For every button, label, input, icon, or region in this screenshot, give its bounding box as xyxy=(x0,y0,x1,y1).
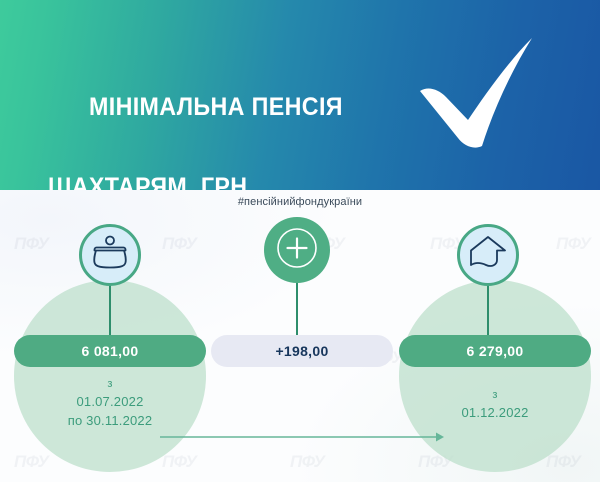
before-date-caption: з 01.07.2022 по 30.11.2022 xyxy=(14,376,206,430)
after-date-prep: з xyxy=(399,387,591,403)
before-value-pill: 6 081,00 xyxy=(14,335,206,367)
wallet-icon xyxy=(90,235,130,276)
after-date-caption: з 01.12.2022 xyxy=(399,387,591,422)
checkmark-icon xyxy=(412,34,542,154)
delta-value-pill: +198,00 xyxy=(211,335,393,367)
delta-icon-badge xyxy=(264,217,330,283)
before-date-prep: з xyxy=(14,376,206,392)
before-date-from: 01.07.2022 xyxy=(14,392,206,411)
hashtag-label: #пенсійнийфондукраїни xyxy=(0,196,600,208)
after-value: 6 279,00 xyxy=(467,343,524,359)
after-date-from: 01.12.2022 xyxy=(399,403,591,422)
after-value-pill: 6 279,00 xyxy=(399,335,591,367)
right-arrow-icon xyxy=(160,430,445,444)
watermark: ПФУ xyxy=(546,452,580,472)
watermark: ПФУ xyxy=(556,234,590,254)
after-icon-badge xyxy=(457,224,519,286)
after-stem xyxy=(487,284,489,340)
page-title-line2: ШАХТАРЯМ, ГРН xyxy=(48,167,343,190)
before-date-to: по 30.11.2022 xyxy=(14,411,206,430)
content-board: #пенсійнийфондукраїни ПФУ ПФУ ПФУ ПФУ ПФ… xyxy=(0,190,600,482)
watermark: ПФУ xyxy=(14,452,48,472)
before-stem xyxy=(109,284,111,340)
delta-value: +198,00 xyxy=(275,343,328,359)
page-title-line1: МІНІМАЛЬНА ПЕНСІЯ xyxy=(89,93,343,121)
infographic-page: МІНІМАЛЬНА ПЕНСІЯ ШАХТАРЯМ, ГРН #пенсійн… xyxy=(0,0,600,482)
watermark: ПФУ xyxy=(14,234,48,254)
header-banner: МІНІМАЛЬНА ПЕНСІЯ ШАХТАРЯМ, ГРН xyxy=(0,0,600,190)
watermark: ПФУ xyxy=(162,234,196,254)
watermark: ПФУ xyxy=(290,452,324,472)
plus-circle-icon xyxy=(274,225,320,276)
before-value: 6 081,00 xyxy=(82,343,139,359)
watermark: ПФУ xyxy=(162,452,196,472)
before-icon-badge xyxy=(79,224,141,286)
up-arrow-icon xyxy=(467,234,509,277)
page-title: МІНІМАЛЬНА ПЕНСІЯ ШАХТАРЯМ, ГРН xyxy=(48,47,343,190)
